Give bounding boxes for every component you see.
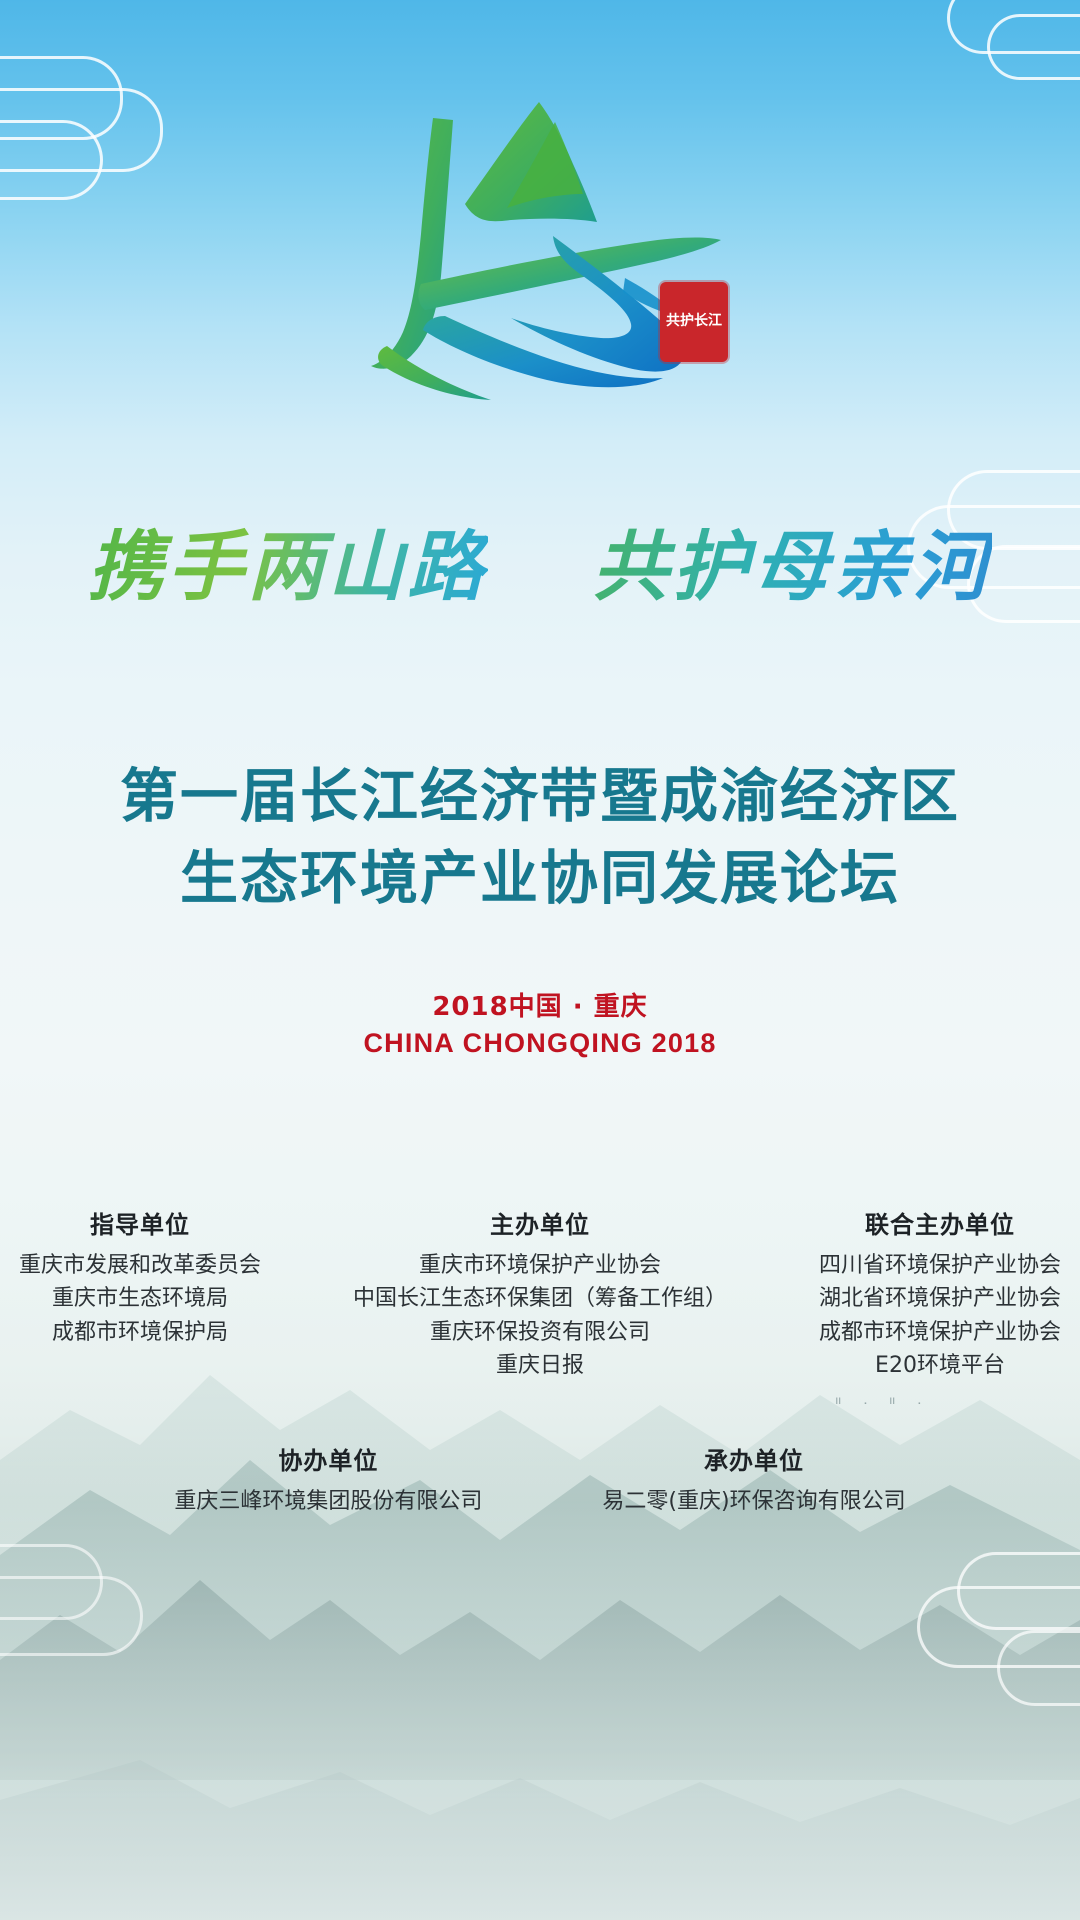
organizers-row-2: 协办单位重庆三峰环境集团股份有限公司承办单位易二零(重庆)环保咨询有限公司 [0,1441,1080,1518]
organizer-item: 重庆三峰环境集团股份有限公司 [174,1485,482,1518]
event-date-chinese: 2018中国 · 重庆 [0,990,1080,1025]
cloud-motif-bottom-right-3 [997,1630,1080,1706]
slogan-part-2: 共护母亲河 [592,522,992,611]
cloud-motif-bottom-left-2 [0,1576,143,1656]
organizer-item: 重庆市环境保护产业协会 [353,1249,727,1282]
organizer-heading: 协办单位 [174,1441,482,1476]
organizer-column-承办单位: 承办单位易二零(重庆)环保咨询有限公司 [602,1441,905,1518]
organizer-column-联合主办单位: 联合主办单位四川省环境保护产业协会湖北省环境保护产业协会成都市环境保护产业协会E… [819,1205,1061,1383]
title-line-1: 第一届长江经济带暨成渝经济区 [0,755,1080,837]
seal-text: 共护长江 [666,314,722,329]
organizer-column-协办单位: 协办单位重庆三峰环境集团股份有限公司 [174,1441,482,1518]
organizer-item: 重庆环保投资有限公司 [353,1316,727,1349]
organizer-item: 成都市环境保护局 [19,1316,261,1349]
organizer-item: 重庆市生态环境局 [19,1282,261,1315]
organizer-heading: 指导单位 [19,1205,261,1240]
cloud-motif-top-right-2 [987,14,1080,80]
conference-poster: 共护长江 携手两山路 共护母亲河 第一届长江经济带暨成渝经济区 生态环境产业协同… [0,0,1080,1920]
organizer-item: 中国长江生态环保集团（筹备工作组） [353,1282,727,1315]
poster-slogan: 携手两山路 共护母亲河 [0,505,1080,615]
red-seal-stamp: 共护长江 [660,282,728,362]
organizer-heading: 主办单位 [353,1205,727,1240]
organizer-heading: 联合主办单位 [819,1205,1061,1240]
organizer-item: 易二零(重庆)环保咨询有限公司 [602,1485,905,1518]
cloud-motif-top-left-3 [0,120,103,200]
organizer-heading: 承办单位 [602,1441,905,1476]
flying-birds-icon: ᐦ ᐧ ᐦ ᐧ [835,1395,930,1413]
organizers-row-1: 指导单位重庆市发展和改革委员会重庆市生态环境局成都市环境保护局主办单位重庆市环境… [0,1205,1080,1383]
title-line-2: 生态环境产业协同发展论坛 [0,837,1080,919]
organizer-item: 四川省环境保护产业协会 [819,1249,1061,1282]
organizer-item: 重庆日报 [353,1349,727,1382]
organizer-column-指导单位: 指导单位重庆市发展和改革委员会重庆市生态环境局成都市环境保护局 [19,1205,261,1349]
slogan-part-1: 携手两山路 [88,522,488,611]
event-date-english: CHINA CHONGQING 2018 [0,1025,1080,1061]
organizer-item: 重庆市发展和改革委员会 [19,1249,261,1282]
organizers-section: 指导单位重庆市发展和改革委员会重庆市生态环境局成都市环境保护局主办单位重庆市环境… [0,1205,1080,1518]
organizer-item: 湖北省环境保护产业协会 [819,1282,1061,1315]
organizer-item: 成都市环境保护产业协会 [819,1316,1061,1349]
organizer-item: E20环境平台 [819,1349,1061,1382]
organizer-column-主办单位: 主办单位重庆市环境保护产业协会中国长江生态环保集团（筹备工作组）重庆环保投资有限… [353,1205,727,1383]
page-title: 第一届长江经济带暨成渝经济区 生态环境产业协同发展论坛 [0,755,1080,920]
event-date-location: 2018中国 · 重庆 CHINA CHONGQING 2018 [0,990,1080,1062]
